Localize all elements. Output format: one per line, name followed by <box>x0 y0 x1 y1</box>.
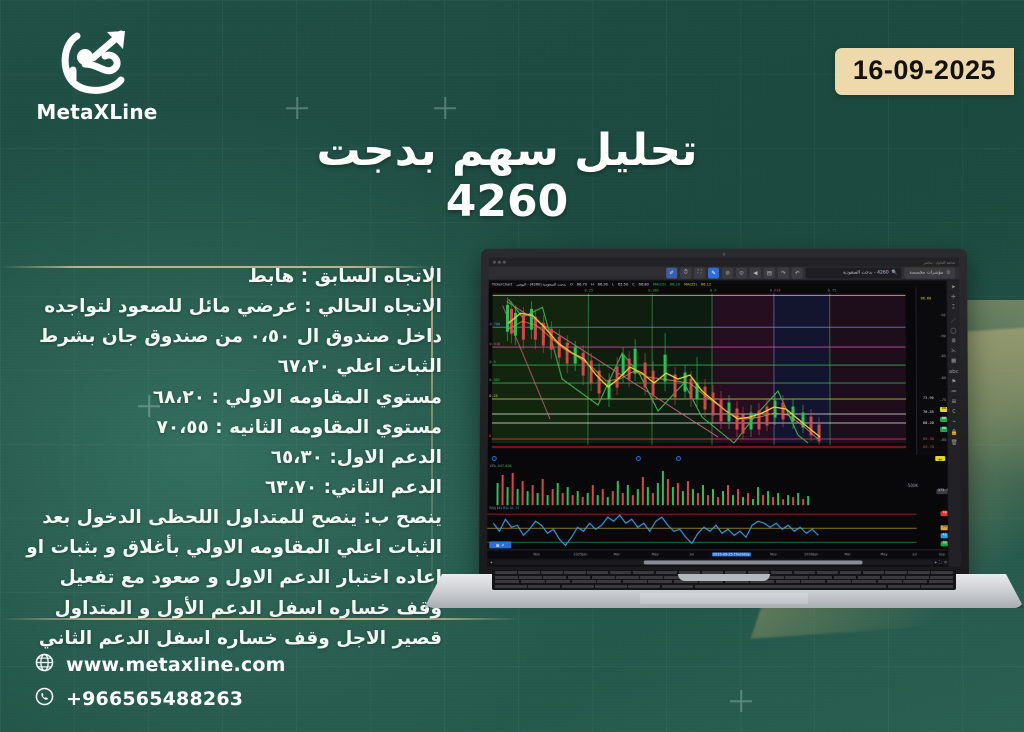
ruler-icon[interactable]: ⌶ <box>952 305 955 312</box>
ma10-value: 66.10 <box>670 282 680 286</box>
fib-label: 0.25 <box>489 394 498 398</box>
plus-marker-icon <box>730 690 752 712</box>
fib-label: 0.382 <box>489 378 500 382</box>
time-label: Nov <box>770 552 777 556</box>
gann-top-label: 0.75 <box>828 288 837 292</box>
time-highlight-label: 2025-09-25 Thursday <box>712 552 751 556</box>
analysis-line-support2: الدعم الثاني: ٦٣،٧٠ <box>22 473 442 503</box>
chart-toolbar[interactable]: ✐ ⏱ ⛶ ✎ ⊘ ⊙ ◀ ▤ ↷ ↶ 🔍 4260 - بدجت السعود… <box>489 267 959 281</box>
brand-name: MetaXLine <box>32 100 162 124</box>
fit-screen-icon[interactable]: ⛶ <box>939 559 942 564</box>
gann-top-label: 0.5 <box>710 288 716 292</box>
window-controls[interactable] <box>493 261 506 264</box>
brand-logo[interactable]: MetaXLine <box>32 24 162 124</box>
ohlc-symbol: بدجت السعودية (4260) - اليومي <box>516 282 566 286</box>
maximize-icon[interactable] <box>498 261 501 264</box>
fib-label: 0.618 <box>489 342 500 346</box>
analysis-line-recommendation: ينصح ب: ينصح للمتداول اللحظى الدخول بعد … <box>22 503 442 654</box>
analysis-line-support1: الدعم الاول: ٦٥،٣٠ <box>22 443 442 473</box>
cursor-icon[interactable]: ➤ <box>951 284 956 290</box>
window-titlebar: شاشة التداول - مباشر <box>489 258 959 267</box>
time-label: Jul <box>913 552 917 556</box>
ohlc-high: 66.90 <box>598 282 608 286</box>
ohlc-low-label: L <box>612 282 614 286</box>
search-icon: 🔍 <box>892 271 898 276</box>
chart-tool-icon: ▦ <box>496 543 499 547</box>
ohlc-high-label: H <box>591 282 594 286</box>
drawing-marker-icon[interactable]: ⓘ <box>676 456 681 461</box>
hide-icon[interactable]: ⌁ <box>952 419 955 425</box>
drawing-tools-rail[interactable]: ➤ ✛ ⌶ ／ ◯ ≣ ⋋ ▦ abc ⚑ ≔ ⊞ ∁ ⌁ 🔒 🗑 <box>946 281 961 567</box>
keyboard-row <box>492 585 956 588</box>
close-icon[interactable] <box>503 261 506 264</box>
shape-icon[interactable]: ◯ <box>950 328 956 334</box>
ma25-value: 66.12 <box>701 282 711 286</box>
lock-icon[interactable]: 🔒 <box>951 430 958 436</box>
pattern-icon[interactable]: ▦ <box>951 358 956 364</box>
whatsapp-icon <box>34 686 55 711</box>
main-price-chart[interactable]: 0.786 0.618 0.5 0.382 0.25 0 0.25 0.382 … <box>488 287 960 455</box>
time-label: Mar <box>614 552 620 556</box>
reset-zoom-icon[interactable]: ⟲ <box>944 559 947 564</box>
rsi-panel[interactable]: RSI(14) RSI 41.71 70.0000 50.0000 41.701… <box>487 505 961 549</box>
time-label: May <box>881 552 888 556</box>
magnet-icon[interactable]: ∁ <box>952 409 956 415</box>
timeframe-icon[interactable]: ⏱ <box>680 268 691 279</box>
text-icon[interactable]: abc <box>949 369 959 375</box>
footer-contact: www.metaxline.com +966565488263 <box>34 652 286 720</box>
webcam-icon <box>723 252 726 255</box>
phone-text: +966565488263 <box>66 688 243 710</box>
analysis-line-resistance1: مستوي المقاومه الاولي : ٦٨،٢٠ <box>22 383 442 413</box>
drawing-tool-button[interactable]: ▦ ✐ <box>489 541 511 548</box>
undo-icon[interactable]: ↶ <box>792 268 803 279</box>
volume-bars-svg: -500K <box>487 463 960 505</box>
analysis-line-prev-trend: الاتجاه السابق : هابط <box>22 262 442 292</box>
volume-axis-label: -500K <box>906 483 918 488</box>
drawing-marker-icon[interactable]: ⓘ <box>492 456 497 461</box>
fib-label: 0.5 <box>489 360 496 364</box>
laptop-lid: شاشة التداول - مباشر ✐ ⏱ ⛶ ✎ ⊘ ⊙ ◀ ▤ ↷ ↶… <box>479 249 969 579</box>
fib-label: 0.786 <box>490 322 501 326</box>
ma25-label: MA(25) <box>684 282 697 286</box>
drawing-markers-row: ⓘ ⓘ ⓘ بيع <box>488 455 961 463</box>
snapshot-icon[interactable]: ⛶ <box>694 268 705 279</box>
laptop-mockup: شاشة التداول - مباشر ✐ ⏱ ⛶ ✎ ⊘ ⊙ ◀ ▤ ↷ ↶… <box>424 248 1024 648</box>
ohlc-info-bar: TickerChart بدجت السعودية (4260) - اليوم… <box>489 281 960 288</box>
time-label: 2025Jan <box>573 552 587 556</box>
page-title: تحليل سهم بدجت 4260 <box>272 126 742 227</box>
symbol-search-value: 4260 - بدجت السعودية <box>843 271 889 276</box>
poster-canvas: MetaXLine 16-09-2025 تحليل سهم بدجت 4260… <box>0 0 1024 732</box>
time-label: May <box>652 552 659 556</box>
draw-pen-icon[interactable]: ✐ <box>666 268 677 279</box>
drawing-marker-icon[interactable]: ⓘ <box>636 456 641 461</box>
trading-app-screen: شاشة التداول - مباشر ✐ ⏱ ⛶ ✎ ⊘ ⊙ ◀ ▤ ↷ ↶… <box>487 258 961 567</box>
indicators-chip[interactable]: ⊙ مؤشرات مخصصة <box>904 268 955 279</box>
gann-top-label: 0.382 <box>648 288 659 292</box>
rsi-svg <box>487 505 961 549</box>
ohlc-open-label: O <box>570 282 573 286</box>
price-chart-svg <box>488 287 960 455</box>
globe-icon <box>34 652 55 677</box>
ohlc-close: 66.80 <box>639 282 649 286</box>
laptop-trackpad <box>640 593 808 604</box>
ohlc-legend: TickerChart <box>492 282 513 286</box>
chart-scrollbar[interactable]: ◂ ▸ ⛶ ⟲ ⊖ ⊕ <box>487 558 961 565</box>
pen-tool-icon: ✐ <box>501 543 504 547</box>
time-label: Sep <box>939 552 945 556</box>
trash-icon[interactable]: 🗑 <box>951 440 958 446</box>
scroll-track[interactable] <box>494 560 933 564</box>
analysis-line-curr-trend: الاتجاه الحالي : عرضي مائل للصعود لتواجد… <box>22 292 442 382</box>
layout-icon[interactable]: ▤ <box>764 268 775 279</box>
analysis-text-block: الاتجاه السابق : هابط الاتجاه الحالي : ع… <box>22 262 442 654</box>
sell-tag[interactable]: بيع <box>935 456 945 461</box>
gann-top-label: 0.25 <box>584 288 593 292</box>
metaxline-arrow-logo-icon <box>32 24 162 96</box>
measure-icon[interactable]: ≔ <box>951 389 957 395</box>
scroll-thumb[interactable] <box>643 560 862 564</box>
ma10-label: MA(10) <box>653 282 666 286</box>
analysis-line-resistance2: مستوي المقاومه الثانيه : ٧٠،٥٥ <box>22 413 442 443</box>
footer-phone-row[interactable]: +966565488263 <box>34 686 286 711</box>
redo-icon[interactable]: ↷ <box>778 268 789 279</box>
indicators-label: مؤشرات مخصصة <box>909 271 943 276</box>
gann-top-label: 0.618 <box>770 288 781 292</box>
website-text: www.metaxline.com <box>66 654 286 676</box>
scroll-right-icon[interactable]: ▸ <box>935 559 937 564</box>
time-label: 2026Jan <box>804 552 818 556</box>
fib-icon[interactable]: ≣ <box>951 338 956 344</box>
ohlc-open: 66.70 <box>577 282 587 286</box>
footer-website-row[interactable]: www.metaxline.com <box>34 652 286 677</box>
flag-icon[interactable]: ⚑ <box>951 379 956 385</box>
rsi-panel-label: RSI(14) RSI 41.71 <box>489 506 519 510</box>
time-label: Jul <box>690 552 694 556</box>
time-label: Mar <box>844 552 850 556</box>
fib-label: 0 <box>489 434 491 438</box>
ohlc-close-label: C <box>632 282 635 286</box>
plus-marker-icon <box>286 97 308 119</box>
time-label: Nov <box>533 552 540 556</box>
trendline-icon[interactable]: ／ <box>951 316 957 324</box>
gann-icon[interactable]: ⋋ <box>951 348 957 354</box>
volume-panel[interactable]: VOL 447.63K <box>487 463 960 505</box>
brush-icon[interactable]: ✎ <box>708 268 719 279</box>
crosshair-icon[interactable]: ✛ <box>951 295 956 301</box>
scroll-left-icon[interactable]: ◂ <box>490 559 492 564</box>
minimize-icon[interactable] <box>493 261 496 264</box>
laptop-lid-notch <box>678 574 770 581</box>
plus-marker-icon <box>434 97 456 119</box>
compare-icon[interactable]: ⊘ <box>722 268 733 279</box>
window-title: شاشة التداول - مباشر <box>924 260 955 264</box>
alert-icon[interactable]: ◀ <box>750 268 761 279</box>
settings-icon[interactable]: ⊙ <box>736 268 747 279</box>
symbol-search-input[interactable]: 🔍 4260 - بدجت السعودية <box>806 268 902 279</box>
ohlc-low: 65.50 <box>618 282 628 286</box>
time-axis[interactable]: Nov 2025Jan Mar May Jul 2025-09-25 Thurs… <box>487 549 961 558</box>
volume-panel-label: VOL 447.63K <box>490 464 512 468</box>
indicator-icon: ⊙ <box>946 271 950 276</box>
bar-pattern-icon[interactable]: ⊞ <box>952 399 957 405</box>
date-badge: 16-09-2025 <box>835 48 1014 95</box>
